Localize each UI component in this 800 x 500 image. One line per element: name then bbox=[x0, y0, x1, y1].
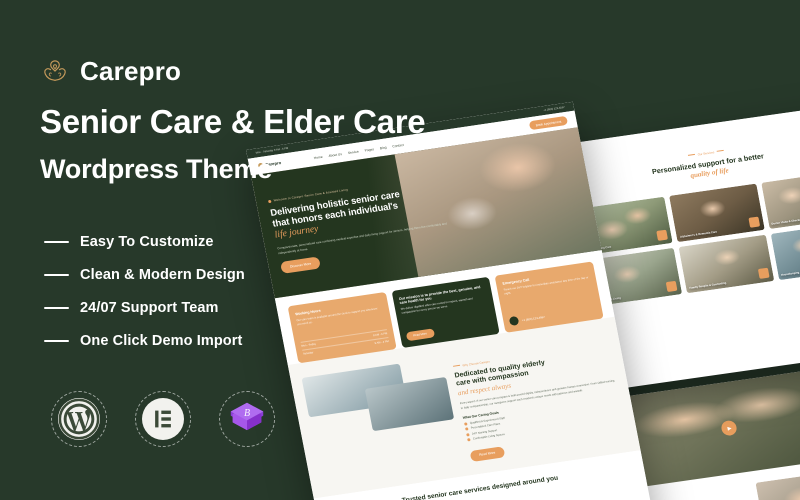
service-icon bbox=[657, 230, 669, 241]
service-icon bbox=[758, 268, 770, 279]
bootstrap-box-badge[interactable]: B bbox=[219, 391, 275, 447]
dash-icon bbox=[44, 274, 69, 276]
nav-item[interactable]: Contact bbox=[392, 142, 404, 148]
elementor-icon bbox=[142, 398, 184, 440]
nav-item[interactable]: Home bbox=[313, 154, 322, 159]
service-icon bbox=[748, 217, 760, 228]
left-panel: Carepro Senior Care & Elder Care Wordpre… bbox=[0, 0, 300, 500]
eyebrow-line-icon bbox=[453, 365, 460, 367]
service-icon bbox=[666, 281, 678, 292]
page-title: Senior Care & Elder Care bbox=[40, 104, 460, 141]
feature-list: Easy To Customize Clean & Modern Design … bbox=[44, 225, 245, 357]
promo-banner: Our Services Personalized support for a … bbox=[0, 0, 800, 500]
play-triangle-icon bbox=[727, 426, 732, 430]
eyebrow-line-icon bbox=[688, 154, 695, 156]
tech-badges: B bbox=[51, 391, 275, 447]
brand: Carepro bbox=[40, 56, 181, 86]
nav-cta-button[interactable]: Book Appointment bbox=[529, 116, 568, 131]
box-b-icon: B bbox=[226, 398, 268, 440]
phone-icon bbox=[509, 316, 520, 326]
feature-item: Easy To Customize bbox=[44, 225, 245, 258]
brand-name: Carepro bbox=[80, 58, 181, 84]
service-card[interactable]: Family Respite & Counseling bbox=[679, 235, 774, 294]
dash-icon bbox=[44, 340, 69, 342]
feature-item: 24/07 Support Team bbox=[44, 291, 245, 324]
wordpress-badge[interactable] bbox=[51, 391, 107, 447]
bullet-icon bbox=[465, 428, 469, 431]
dash-icon bbox=[44, 241, 69, 243]
wordpress-icon bbox=[58, 398, 100, 440]
bullet-icon bbox=[464, 422, 468, 425]
play-icon[interactable] bbox=[720, 420, 738, 437]
bullet-icon bbox=[466, 433, 470, 436]
nav-item[interactable]: Pages bbox=[364, 147, 374, 152]
feature-item: Clean & Modern Design bbox=[44, 258, 245, 291]
nav-item[interactable]: Blog bbox=[379, 145, 386, 150]
about-text: Why Choose Carepro Dedicated to quality … bbox=[450, 331, 627, 462]
page-subtitle: Wordpress Theme bbox=[40, 155, 272, 185]
service-card[interactable]: Housekeeping & Meal Prep bbox=[770, 222, 800, 281]
eyebrow-line-icon bbox=[716, 150, 723, 152]
feature-item: One Click Demo Import bbox=[44, 324, 245, 357]
service-card[interactable]: Doctor Visits & Checkups bbox=[761, 171, 800, 230]
community-photo bbox=[756, 466, 800, 500]
dash-icon bbox=[44, 307, 69, 309]
nav-item[interactable]: About Us bbox=[328, 152, 342, 158]
bullet-icon bbox=[467, 438, 471, 441]
nav-item[interactable]: Service bbox=[347, 149, 359, 155]
service-card[interactable]: Alzheimer's & Dementia Care bbox=[669, 184, 764, 243]
elementor-badge[interactable] bbox=[135, 391, 191, 447]
svg-text:B: B bbox=[244, 408, 250, 419]
hands-holding-heart-icon bbox=[40, 56, 70, 86]
mission-cta-button[interactable]: Read More bbox=[405, 328, 434, 341]
about-photos bbox=[301, 355, 455, 446]
about-cta-button[interactable]: Read More bbox=[469, 446, 505, 462]
